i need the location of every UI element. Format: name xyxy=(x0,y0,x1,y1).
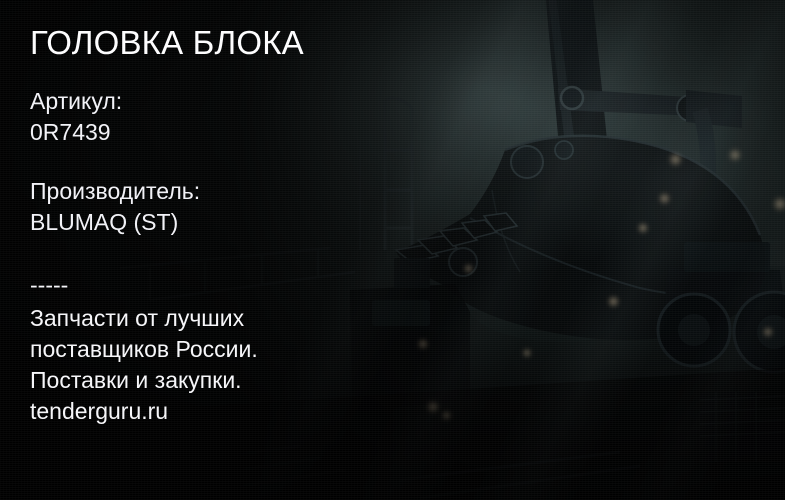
manufacturer-block: Производитель: BLUMAQ (ST) xyxy=(30,176,200,238)
manufacturer-label: Производитель: xyxy=(30,178,200,204)
bokeh-light-icon xyxy=(772,196,785,212)
bokeh-light-icon xyxy=(463,263,474,274)
bokeh-light-icon xyxy=(522,348,532,358)
promo-site-url[interactable]: tenderguru.ru xyxy=(30,396,370,427)
bokeh-light-icon xyxy=(637,222,649,234)
article-block: Артикул: 0R7439 xyxy=(30,86,122,148)
bokeh-light-icon xyxy=(762,326,774,338)
promo-line-3: Поставки и закупки. xyxy=(30,365,370,396)
bokeh-light-icon xyxy=(658,192,671,205)
product-info-panel: ГОЛОВКА БЛОКА Артикул: 0R7439 Производит… xyxy=(30,0,450,500)
bokeh-light-icon xyxy=(668,152,683,167)
manufacturer-value: BLUMAQ (ST) xyxy=(30,207,200,238)
article-value: 0R7439 xyxy=(30,117,122,148)
promo-line-1: Запчасти от лучших xyxy=(30,303,370,334)
bokeh-light-icon xyxy=(728,148,742,162)
product-title: ГОЛОВКА БЛОКА xyxy=(30,24,304,62)
bokeh-light-icon xyxy=(607,295,620,308)
product-banner-card: ГОЛОВКА БЛОКА Артикул: 0R7439 Производит… xyxy=(0,0,785,500)
section-divider: ----- xyxy=(30,272,68,298)
promo-line-2: поставщиков России. xyxy=(30,334,370,365)
article-label: Артикул: xyxy=(30,88,122,114)
promo-block: Запчасти от лучших поставщиков России. П… xyxy=(30,303,370,427)
